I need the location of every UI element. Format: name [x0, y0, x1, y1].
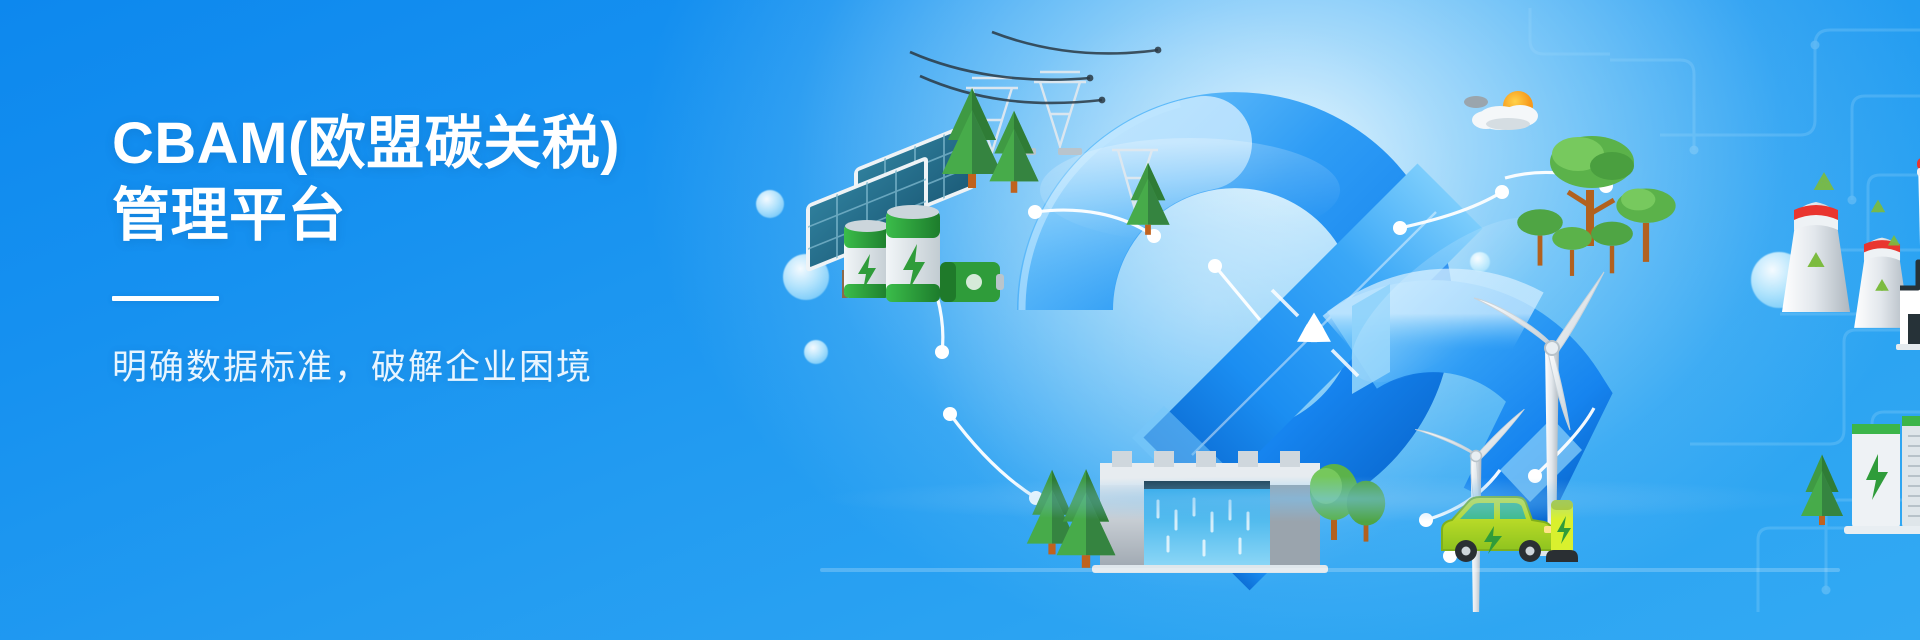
energy-storage-cabinet — [1844, 412, 1920, 534]
page-title: CBAM(欧盟碳关税) 管理平台 — [112, 108, 832, 252]
title-divider — [112, 296, 219, 301]
title-line-1: CBAM(欧盟碳关税) — [112, 108, 832, 180]
sun-cloud-icon — [1464, 91, 1538, 130]
title-line-2: 管理平台 — [112, 180, 832, 252]
ground-line — [820, 568, 1840, 572]
broadleaf-tree — [1517, 136, 1675, 276]
power-line — [910, 32, 1158, 103]
hydroelectric-dam — [1092, 451, 1328, 573]
hero-banner: CBAM(欧盟碳关税) 管理平台 明确数据标准，破解企业困境 — [0, 0, 1920, 640]
banner-subtitle: 明确数据标准，破解企业困境 — [112, 345, 832, 391]
illustration — [760, 0, 1920, 640]
banner-copy: CBAM(欧盟碳关税) 管理平台 明确数据标准，破解企业困境 — [112, 108, 832, 391]
cooling-tower — [1782, 202, 1910, 328]
